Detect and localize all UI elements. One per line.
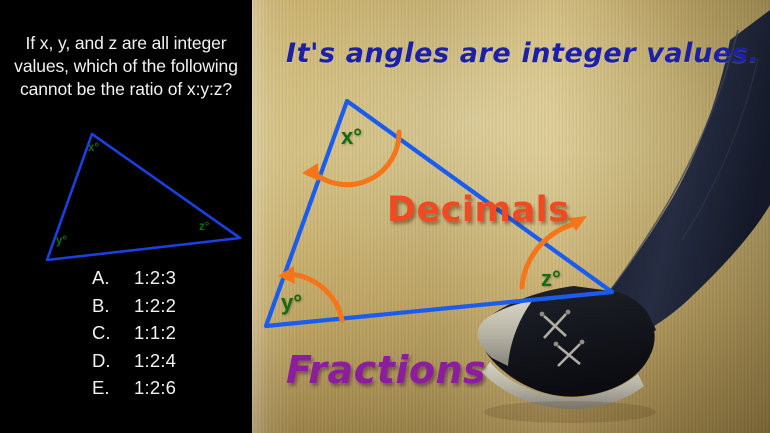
answer-value-d: 1:2:4: [134, 347, 176, 375]
answer-value-e: 1:2:6: [134, 374, 176, 402]
answer-option-b[interactable]: B. 1:2:2: [92, 292, 252, 320]
answer-letter-c: C.: [92, 319, 134, 347]
question-text: If x, y, and z are all integer values, w…: [8, 32, 244, 101]
headline-text: It's angles are integer values.: [286, 38, 759, 69]
mini-angle-label-z: z°: [199, 221, 209, 233]
answer-option-c[interactable]: C. 1:1:2: [92, 319, 252, 347]
mini-angle-label-y: y°: [56, 235, 67, 247]
answer-letter-b: B.: [92, 292, 134, 320]
angle-label-z: z°: [541, 266, 561, 292]
answer-letter-a: A.: [92, 264, 134, 292]
answer-choices-list: A. 1:2:3 B. 1:2:2 C. 1:1:2 D. 1:2:4 E. 1…: [92, 264, 252, 402]
answer-letter-e: E.: [92, 374, 134, 402]
reference-triangle-graphic: [0, 118, 252, 268]
answer-letter-d: D.: [92, 347, 134, 375]
answer-value-b: 1:2:2: [134, 292, 176, 320]
slide-canvas: It's angles are integer values. Decimals…: [0, 0, 770, 433]
answer-option-a[interactable]: A. 1:2:3: [92, 264, 252, 292]
answer-option-d[interactable]: D. 1:2:4: [92, 347, 252, 375]
question-panel: If x, y, and z are all integer values, w…: [0, 0, 252, 433]
angle-label-x: x°: [341, 124, 362, 150]
annotation-decimals: Decimals: [387, 190, 569, 230]
answer-value-c: 1:1:2: [134, 319, 176, 347]
angle-label-y: y°: [281, 290, 302, 316]
mini-angle-label-x: x°: [88, 142, 99, 154]
mini-triangle-outline: [47, 134, 240, 260]
answer-value-a: 1:2:3: [134, 264, 176, 292]
annotation-fractions: Fractions: [286, 348, 486, 392]
answer-option-e[interactable]: E. 1:2:6: [92, 374, 252, 402]
